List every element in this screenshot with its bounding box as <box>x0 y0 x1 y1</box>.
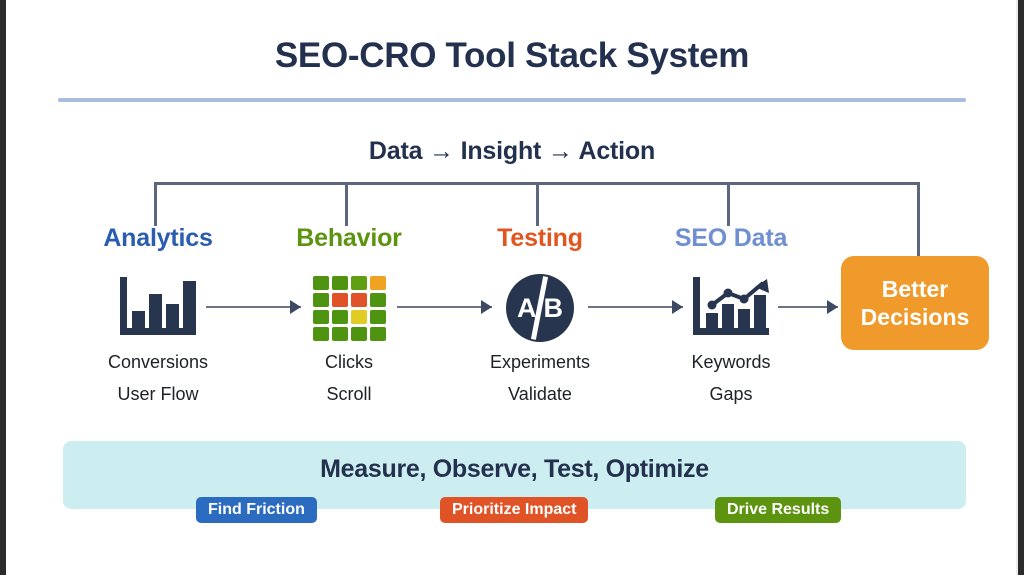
caption-line-1: Experiments <box>450 347 630 379</box>
slide-canvas: SEO-CRO Tool Stack System Data → Insight… <box>6 0 1018 575</box>
bracket-drop-analytics <box>154 182 157 226</box>
outcome-line-2: Decisions <box>861 303 970 331</box>
caption-line-2: Validate <box>450 379 630 411</box>
flow-arrow-4 <box>778 300 838 314</box>
caption-line-2: User Flow <box>68 379 248 411</box>
column-seo-data: SEO Data Keywords Gaps <box>641 226 821 410</box>
caption-line-2: Scroll <box>259 379 439 411</box>
badge-prioritize-impact[interactable]: Prioritize Impact <box>440 497 588 523</box>
column-label-testing: Testing <box>450 226 630 251</box>
column-label-behavior: Behavior <box>259 226 439 251</box>
caption-line-1: Keywords <box>641 347 821 379</box>
column-analytics: Analytics Conversions User Flow <box>68 226 248 410</box>
heatmap-grid <box>313 276 386 341</box>
column-testing: Testing A B Experiments Validate <box>450 226 630 410</box>
summary-panel-title: Measure, Observe, Test, Optimize <box>63 455 966 484</box>
caption-line-2: Gaps <box>641 379 821 411</box>
ab-circle: A B <box>506 274 574 342</box>
ab-letter-b: B <box>544 293 564 324</box>
bracket-drop-behavior <box>345 182 348 226</box>
better-decisions-box[interactable]: Better Decisions <box>841 256 989 350</box>
badge-find-friction[interactable]: Find Friction <box>196 497 317 523</box>
bracket-drop-outcome <box>917 182 920 258</box>
bracket-drop-testing <box>536 182 539 226</box>
outcome-line-1: Better <box>882 275 948 303</box>
arrow-head <box>827 300 838 314</box>
caption-line-1: Conversions <box>68 347 248 379</box>
bracket-drop-seo-data <box>727 182 730 226</box>
column-label-seo-data: SEO Data <box>641 226 821 251</box>
title-divider <box>58 98 966 102</box>
badge-drive-results[interactable]: Drive Results <box>715 497 841 523</box>
column-label-analytics: Analytics <box>68 226 248 251</box>
column-behavior: Behavior Clicks Scroll <box>259 226 439 410</box>
caption-line-1: Clicks <box>259 347 439 379</box>
flow-subtitle: Data → Insight → Action <box>6 137 1018 166</box>
page-title: SEO-CRO Tool Stack System <box>6 36 1018 76</box>
